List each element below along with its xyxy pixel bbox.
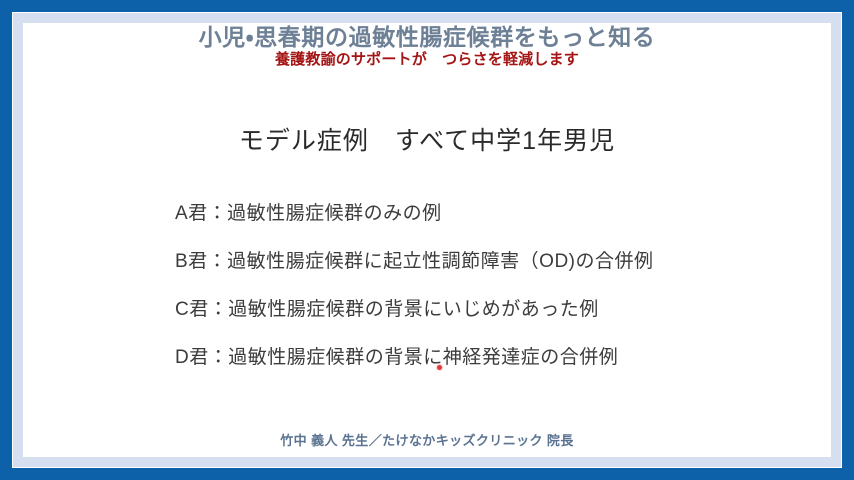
slide-content-area: 小児・思春期の過敏性腸症候群をもっと知る 養護教諭のサポートが つらさを軽減しま… (23, 23, 831, 457)
slide-subtitle: 養護教諭のサポートが つらさを軽減します (23, 50, 831, 70)
slide-header: 小児・思春期の過敏性腸症候群をもっと知る 養護教諭のサポートが つらさを軽減しま… (23, 23, 831, 70)
case-item-c: C君：過敏性腸症候群の背景にいじめがあった例 (175, 298, 815, 322)
slide-title: 小児・思春期の過敏性腸症候群をもっと知る (23, 23, 831, 51)
laser-pointer-dot (437, 365, 442, 370)
case-item-b: B君：過敏性腸症候群に起立性調節障害（OD)の合併例 (175, 250, 815, 274)
case-list: A君：過敏性腸症候群のみの例 B君：過敏性腸症候群に起立性調節障害（OD)の合併… (175, 202, 815, 370)
case-item-d: D君：過敏性腸症候群の背景に神経発達症の合併例 (175, 346, 815, 370)
case-item-a: A君：過敏性腸症候群のみの例 (175, 202, 815, 226)
presentation-slide: 小児・思春期の過敏性腸症候群をもっと知る 養護教諭のサポートが つらさを軽減しま… (0, 0, 854, 480)
presenter-credit: 竹中 義人 先生／たけなかキッズクリニック 院長 (23, 432, 831, 450)
section-heading: モデル症例 すべて中学1年男児 (23, 124, 831, 158)
